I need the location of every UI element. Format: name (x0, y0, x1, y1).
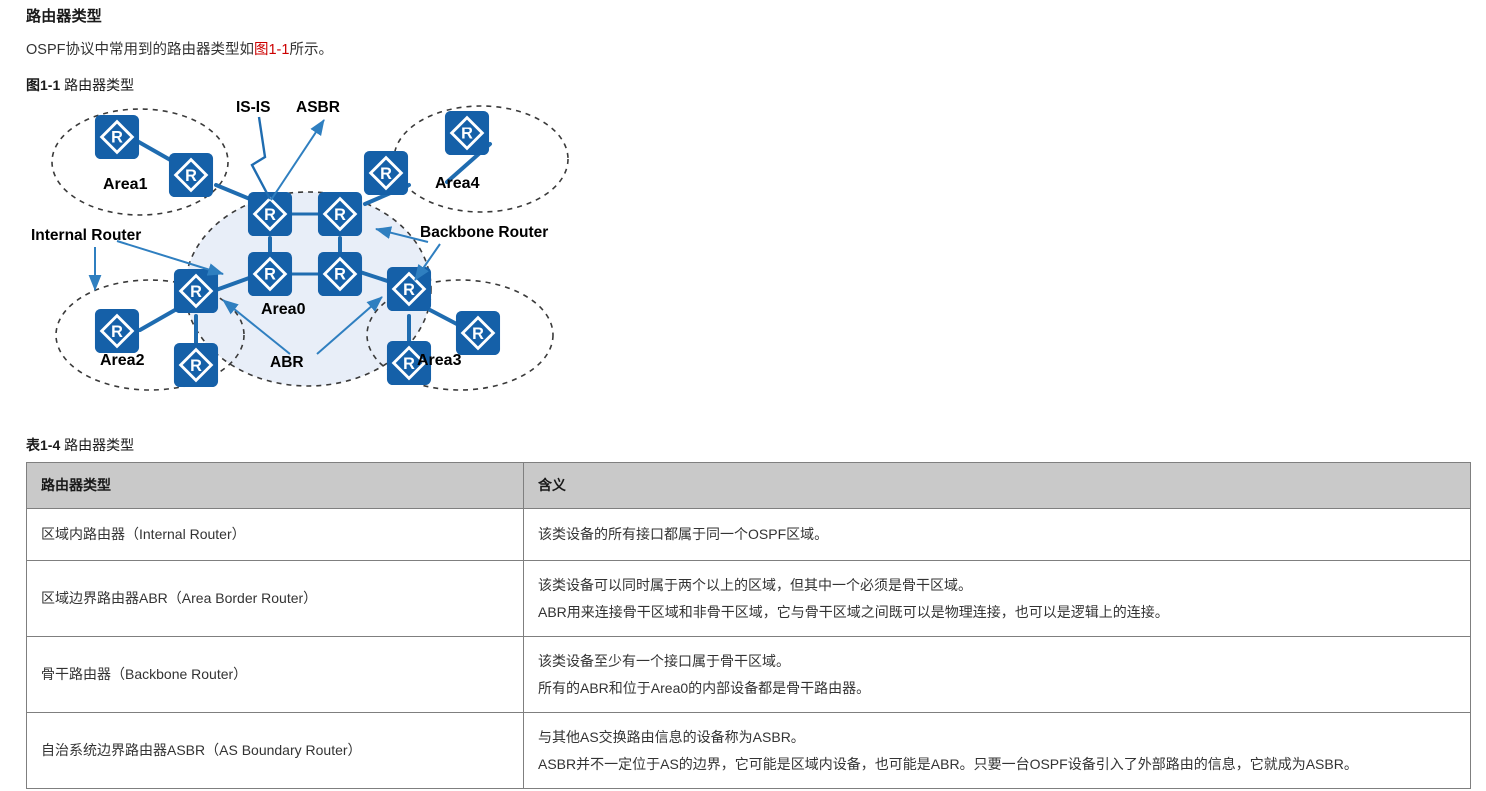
area-label-area3: Area3 (417, 352, 462, 369)
cell-meaning: 与其他AS交换路由信息的设备称为ASBR。 ASBR并不一定位于AS的边界，它可… (524, 713, 1471, 789)
cell-router-type: 区域内路由器（Internal Router） (27, 509, 524, 561)
annotation-label-backbone-router: Backbone Router (420, 224, 548, 241)
column-header-meaning: 含义 (524, 463, 1471, 509)
table-header-row: 路由器类型 含义 (27, 463, 1471, 509)
cell-router-type: 骨干路由器（Backbone Router） (27, 637, 524, 713)
table-row: 区域边界路由器ABR（Area Border Router） 该类设备可以同时属… (27, 561, 1471, 637)
area-label-area4: Area4 (435, 175, 480, 192)
cell-router-type: 区域边界路由器ABR（Area Border Router） (27, 561, 524, 637)
table-row: 骨干路由器（Backbone Router） 该类设备至少有一个接口属于骨干区域… (27, 637, 1471, 713)
table-caption-number: 表1-4 (26, 437, 60, 453)
column-header-router-type: 路由器类型 (27, 463, 524, 509)
router-icon-area2-internal (95, 309, 139, 353)
document-page: 路由器类型 OSPF协议中常用到的路由器类型如图1-1所示。 图1-1 路由器类… (0, 0, 1486, 791)
table-row: 区域内路由器（Internal Router） 该类设备的所有接口都属于同一个O… (27, 509, 1471, 561)
table-caption-text: 路由器类型 (60, 437, 134, 453)
page-title: 路由器类型 (26, 5, 102, 26)
router-types-table: 路由器类型 含义 区域内路由器（Internal Router） 该类设备的所有… (26, 462, 1471, 789)
intro-paragraph: OSPF协议中常用到的路由器类型如图1-1所示。 (26, 38, 333, 59)
figure-caption-number: 图1-1 (26, 77, 60, 93)
router-icon-area1-abr (169, 153, 213, 197)
area-label-area1: Area1 (103, 176, 148, 193)
cell-router-type: 自治系统边界路由器ASBR（AS Boundary Router） (27, 713, 524, 789)
figure-ospf-router-types: R (20, 92, 590, 412)
table-row: 自治系统边界路由器ASBR（AS Boundary Router） 与其他AS交… (27, 713, 1471, 789)
annotation-label-asbr: ASBR (296, 99, 340, 116)
router-icon-area4-abr (364, 151, 408, 195)
router-icon-area2-internal-2 (174, 343, 218, 387)
meaning-line: 该类设备可以同时属于两个以上的区域，但其中一个必须是骨干区域。 (538, 572, 1456, 599)
router-icon-area4-internal (445, 111, 489, 155)
meaning-line: 与其他AS交换路由信息的设备称为ASBR。 (538, 724, 1456, 751)
meaning-line: 该类设备的所有接口都属于同一个OSPF区域。 (538, 521, 1456, 548)
meaning-line: 该类设备至少有一个接口属于骨干区域。 (538, 648, 1456, 675)
router-icon-backbone-tr (318, 192, 362, 236)
area-label-area2: Area2 (100, 352, 145, 369)
meaning-line: ASBR并不一定位于AS的边界，它可能是区域内设备，也可能是ABR。只要一台OS… (538, 751, 1456, 778)
annotation-label-is-is: IS-IS (236, 99, 270, 116)
area-label-area0: Area0 (261, 301, 306, 318)
intro-prefix: OSPF协议中常用到的路由器类型如 (26, 42, 254, 58)
router-icon-backbone-br (318, 252, 362, 296)
meaning-line: 所有的ABR和位于Area0的内部设备都是骨干路由器。 (538, 675, 1456, 702)
meaning-line: ABR用来连接骨干区域和非骨干区域，它与骨干区域之间既可以是物理连接，也可以是逻… (538, 599, 1456, 626)
figure-caption-text: 路由器类型 (60, 77, 134, 93)
figure-cross-reference-link[interactable]: 图1-1 (254, 42, 289, 58)
cell-meaning: 该类设备至少有一个接口属于骨干区域。 所有的ABR和位于Area0的内部设备都是… (524, 637, 1471, 713)
router-icon-area2-abr (174, 269, 218, 313)
router-icon-backbone-bl (248, 252, 292, 296)
router-icon-area3-internal-2 (456, 311, 500, 355)
cell-meaning: 该类设备的所有接口都属于同一个OSPF区域。 (524, 509, 1471, 561)
annotation-label-abr: ABR (270, 354, 304, 371)
router-icon-area3-abr (387, 267, 431, 311)
cell-meaning: 该类设备可以同时属于两个以上的区域，但其中一个必须是骨干区域。 ABR用来连接骨… (524, 561, 1471, 637)
router-icon-area1-internal (95, 115, 139, 159)
table-caption: 表1-4 路由器类型 (26, 435, 134, 455)
intro-suffix: 所示。 (289, 42, 333, 58)
annotation-label-internal-router: Internal Router (31, 227, 141, 244)
